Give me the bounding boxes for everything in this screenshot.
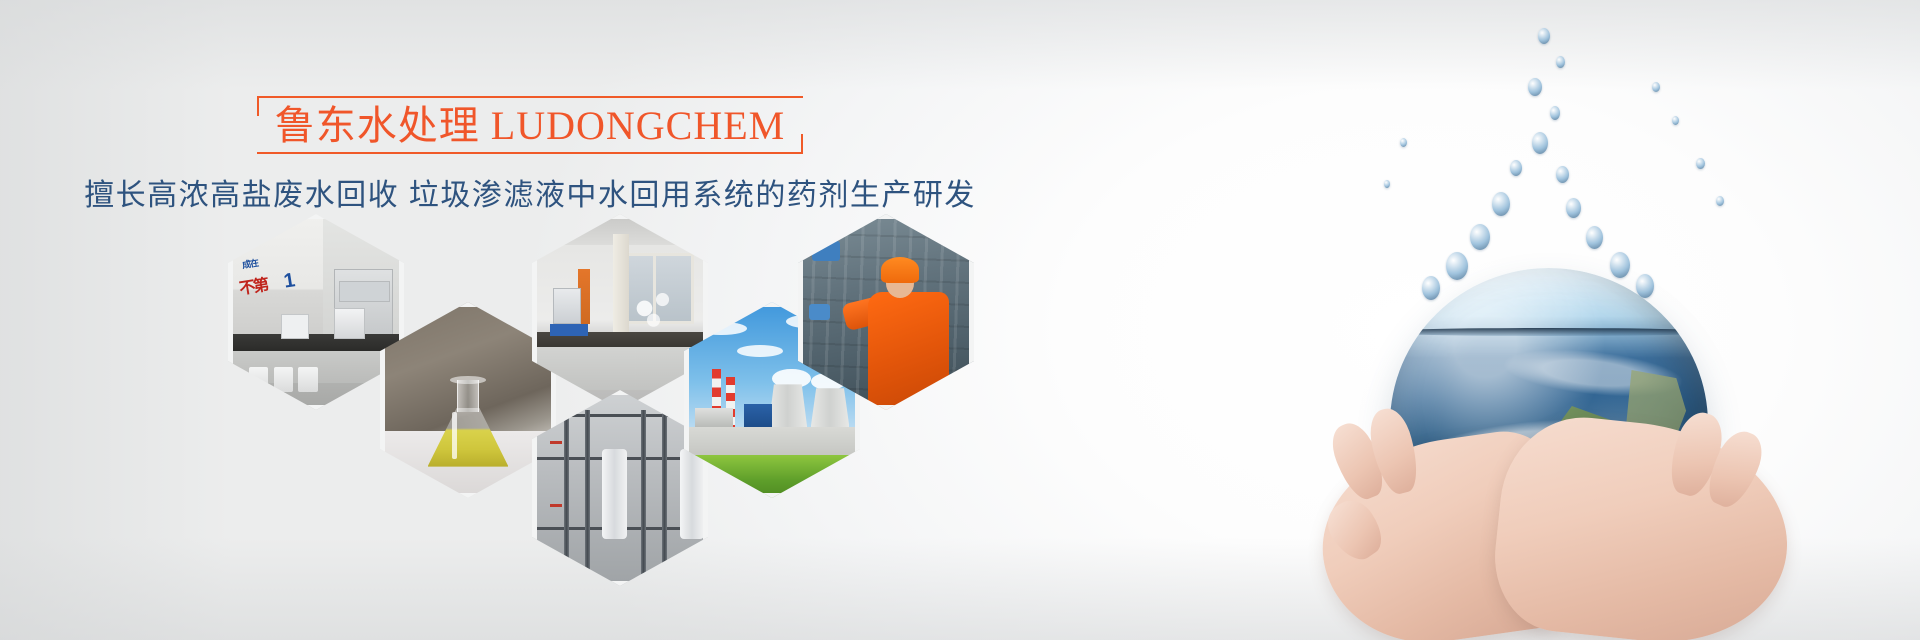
glassware: [631, 273, 677, 332]
flask-neck: [457, 380, 480, 411]
drum: [274, 367, 293, 392]
bracket-right-cap: [801, 134, 803, 154]
red-valve: [550, 441, 562, 444]
membrane-skid-artwork: [532, 390, 708, 586]
blue-valve: [812, 241, 840, 261]
blue-crate: [550, 324, 589, 336]
conical-flask-artwork: [380, 302, 556, 498]
laboratory-room-artwork: 成在 不第 1: [228, 214, 404, 410]
water-globe-artwork: [1060, 0, 1920, 640]
drum: [298, 367, 317, 392]
page-title: 鲁东水处理 LUDONGCHEM: [275, 102, 785, 150]
cooling-tower: [811, 388, 850, 427]
blue-valve: [809, 304, 830, 320]
bench-top: [228, 334, 404, 352]
hexagon-photo-cluster: 成在 不第 1: [228, 214, 1028, 534]
cupped-hands: [1322, 404, 1792, 640]
worker-overall: [868, 292, 949, 410]
red-valve: [550, 504, 562, 507]
hex-photo-laboratory[interactable]: 成在 不第 1: [228, 214, 404, 410]
column: [613, 234, 629, 344]
lab-equipment-artwork: [532, 214, 708, 410]
hex-photo-flask[interactable]: [380, 302, 556, 498]
water-surface-line: [1390, 328, 1708, 336]
grass-field: [684, 455, 860, 498]
vertical-pipe: [641, 410, 646, 575]
title-bracket-frame: 鲁东水处理 LUDONGCHEM: [257, 96, 803, 154]
bench-front: [532, 347, 708, 390]
drum: [249, 367, 268, 392]
slogan-line-2: 不第: [237, 271, 268, 299]
headline-block: 鲁东水处理 LUDONGCHEM 擅长高浓高盐废水回收 垃圾渗滤液中水回用系统的…: [0, 96, 1060, 216]
hex-photo-membrane-skid[interactable]: [532, 390, 708, 586]
bracket-left-cap: [257, 96, 259, 116]
instrument-unit: [281, 314, 309, 339]
cooling-tower: [768, 384, 807, 427]
cloud: [737, 345, 783, 357]
building: [695, 408, 734, 428]
rail: [532, 414, 708, 417]
bracket-top-line: [257, 96, 803, 98]
slogan-number: 1: [282, 269, 297, 293]
page-subtitle: 擅长高浓高盐废水回收 垃圾渗滤液中水回用系统的药剂生产研发: [0, 176, 1060, 216]
wall-slogan: 成在 不第 1: [239, 257, 323, 300]
hex-photo-lab-equipment[interactable]: [532, 214, 708, 410]
vertical-pipe: [585, 410, 590, 575]
safety-helmet: [881, 257, 920, 282]
membrane-vessel: [602, 449, 627, 539]
drying-oven: [553, 288, 581, 323]
flask-highlight: [452, 412, 457, 459]
hero-banner: 鲁东水处理 LUDONGCHEM 擅长高浓高盐废水回收 垃圾渗滤液中水回用系统的…: [0, 0, 1920, 640]
vertical-pipe: [564, 410, 569, 575]
membrane-vessel: [680, 449, 705, 539]
machine: [334, 308, 366, 339]
blue-building: [744, 404, 772, 428]
ground: [684, 427, 860, 454]
bracket-bottom-line: [257, 152, 803, 154]
vertical-pipe: [662, 410, 667, 575]
slogan-line-1: 成在: [241, 256, 259, 271]
